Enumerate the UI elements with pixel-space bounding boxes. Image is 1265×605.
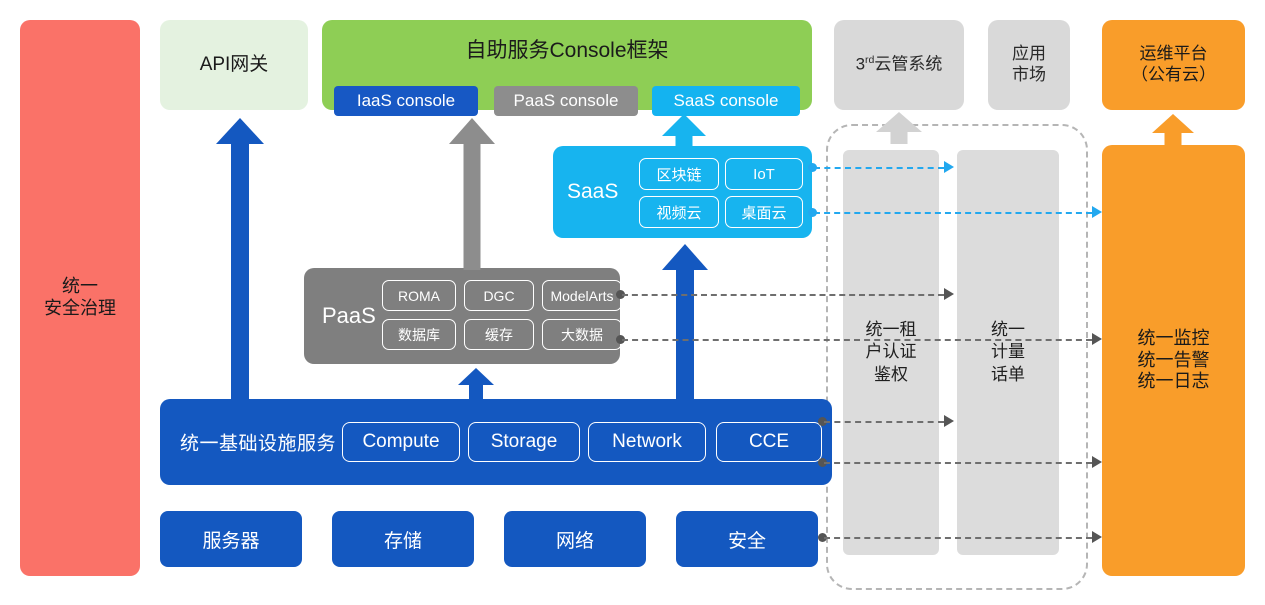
resource-box-storage-label: 存储 [384,526,422,553]
panel-console-framework[interactable]: 自助服务Console框架 IaaS console PaaS console … [322,20,812,110]
ops-panel-line-3: 统一日志 [1138,371,1210,393]
connector-arrowhead-saas-metering [944,161,954,173]
ops-panel-line-2: 统一告警 [1138,350,1210,372]
paas-chip-modelarts[interactable]: ModelArts [542,280,622,311]
iaas-chip-cce-label: CCE [749,431,789,453]
paas-chip-roma[interactable]: ROMA [382,280,456,311]
resource-box-storage[interactable]: 存储 [332,511,474,567]
security-line-1: 统一 [62,276,98,298]
metering-line-3: 话单 [991,364,1025,386]
paas-chip-bigdata[interactable]: 大数据 [542,319,622,350]
saas-chip-iot[interactable]: IoT [725,158,803,190]
app-market-line-1: 应用 [1012,44,1046,65]
paas-chip-roma-label: ROMA [398,288,440,304]
saas-chip-video-cloud-label: 视频云 [656,202,701,223]
connector-saas-to-ops [814,212,1092,214]
tenant-auth-line-2: 户认证 [866,341,917,363]
panel-third-party-cloud-mgmt[interactable]: 3rd云管系统 [834,20,964,110]
third-party-label: 3rd云管系统 [856,54,943,75]
column-unified-metering-billing[interactable]: 统一 计量 话单 [957,150,1059,555]
saas-chip-desktop-cloud-label: 桌面云 [741,202,786,223]
arrow-paas-to-console [448,118,496,270]
saas-label: SaaS [567,180,618,204]
resource-box-server[interactable]: 服务器 [160,511,302,567]
panel-ops-platform-public-cloud[interactable]: 运维平台 （公有云） [1102,20,1245,110]
iaas-label: 统一基础设施服务 [180,429,336,456]
panel-app-market[interactable]: 应用 市场 [988,20,1070,110]
connector-iaas-to-ops [824,462,1092,464]
panel-unified-infrastructure[interactable]: 统一基础设施服务 Compute Storage Network CCE [160,399,832,485]
panel-paas[interactable]: PaaS ROMA DGC ModelArts 数据库 缓存 大数据 [304,268,620,364]
panel-saas[interactable]: SaaS 区块链 IoT 视频云 桌面云 [553,146,812,238]
tenant-auth-line-3: 鉴权 [874,364,908,386]
paas-chip-database-label: 数据库 [398,325,440,345]
connector-saas-to-metering [814,167,944,169]
paas-chip-bigdata-label: 大数据 [561,325,603,345]
ops-platform-line-2: （公有云） [1131,65,1216,86]
panel-unified-security-governance[interactable]: 统一 安全治理 [20,20,140,576]
chip-iaas-console-label: IaaS console [357,91,455,111]
connector-arrowhead-iaas-ops [1092,456,1102,468]
saas-chip-blockchain-label: 区块链 [656,164,701,185]
resource-box-network[interactable]: 网络 [504,511,646,567]
metering-line-2: 计量 [991,341,1025,363]
iaas-chip-cce[interactable]: CCE [716,422,822,462]
paas-chip-dgc[interactable]: DGC [464,280,534,311]
saas-chip-video-cloud[interactable]: 视频云 [639,196,719,228]
paas-chip-cache-label: 缓存 [485,325,513,345]
security-line-2: 安全治理 [44,298,116,320]
api-gateway-label: API网关 [200,53,269,76]
connector-iaas-to-metering [824,421,944,423]
connector-arrowhead-saas-ops [1092,206,1102,218]
iaas-chip-storage[interactable]: Storage [468,422,580,462]
connector-resources-to-ops [824,537,1092,539]
resource-box-server-label: 服务器 [202,526,259,553]
chip-saas-console[interactable]: SaaS console [652,86,800,116]
paas-label: PaaS [322,303,376,329]
iaas-chip-storage-label: Storage [491,431,558,453]
resource-box-security-label: 安全 [728,526,766,553]
panel-api-gateway[interactable]: API网关 [160,20,308,110]
resource-box-security[interactable]: 安全 [676,511,818,567]
connector-arrowhead-paas-metering [944,288,954,300]
iaas-chip-network-label: Network [612,431,682,453]
chip-paas-console-label: PaaS console [514,91,619,111]
connector-arrowhead-resources-ops [1092,531,1102,543]
paas-chip-modelarts-label: ModelArts [550,288,613,304]
architecture-diagram: 统一 安全治理 API网关 自助服务Console框架 IaaS console… [0,0,1265,605]
connector-arrowhead-iaas-metering [944,415,954,427]
saas-chip-blockchain[interactable]: 区块链 [639,158,719,190]
arrow-saas-to-console [662,114,706,150]
arrow-region-to-third-party [876,112,922,144]
connector-paas-to-metering [622,294,944,296]
paas-chip-dgc-label: DGC [483,288,514,304]
app-market-line-2: 市场 [1012,65,1046,86]
chip-saas-console-label: SaaS console [674,91,779,111]
panel-unified-ops[interactable]: 统一监控 统一告警 统一日志 [1102,145,1245,576]
arrow-iaas-to-paas [458,368,494,400]
chip-paas-console[interactable]: PaaS console [494,86,638,116]
arrow-iaas-to-saas [662,244,708,400]
arrow-ops-panel-to-ops-platform [1151,114,1195,146]
ops-panel-line-1: 统一监控 [1138,328,1210,350]
connector-arrowhead-paas-ops [1092,333,1102,345]
iaas-chip-compute-label: Compute [362,431,439,453]
column-unified-tenant-auth[interactable]: 统一租 户认证 鉴权 [843,150,939,555]
paas-chip-database[interactable]: 数据库 [382,319,456,350]
iaas-chip-network[interactable]: Network [588,422,706,462]
resource-box-network-label: 网络 [556,526,594,553]
connector-paas-to-ops [622,339,1092,341]
chip-iaas-console[interactable]: IaaS console [334,86,478,116]
paas-chip-cache[interactable]: 缓存 [464,319,534,350]
saas-chip-iot-label: IoT [753,166,775,183]
ops-platform-line-1: 运维平台 [1140,44,1208,65]
saas-chip-desktop-cloud[interactable]: 桌面云 [725,196,803,228]
iaas-chip-compute[interactable]: Compute [342,422,460,462]
console-framework-title: 自助服务Console框架 [322,34,812,64]
arrow-iaas-to-api-gateway [216,118,264,400]
